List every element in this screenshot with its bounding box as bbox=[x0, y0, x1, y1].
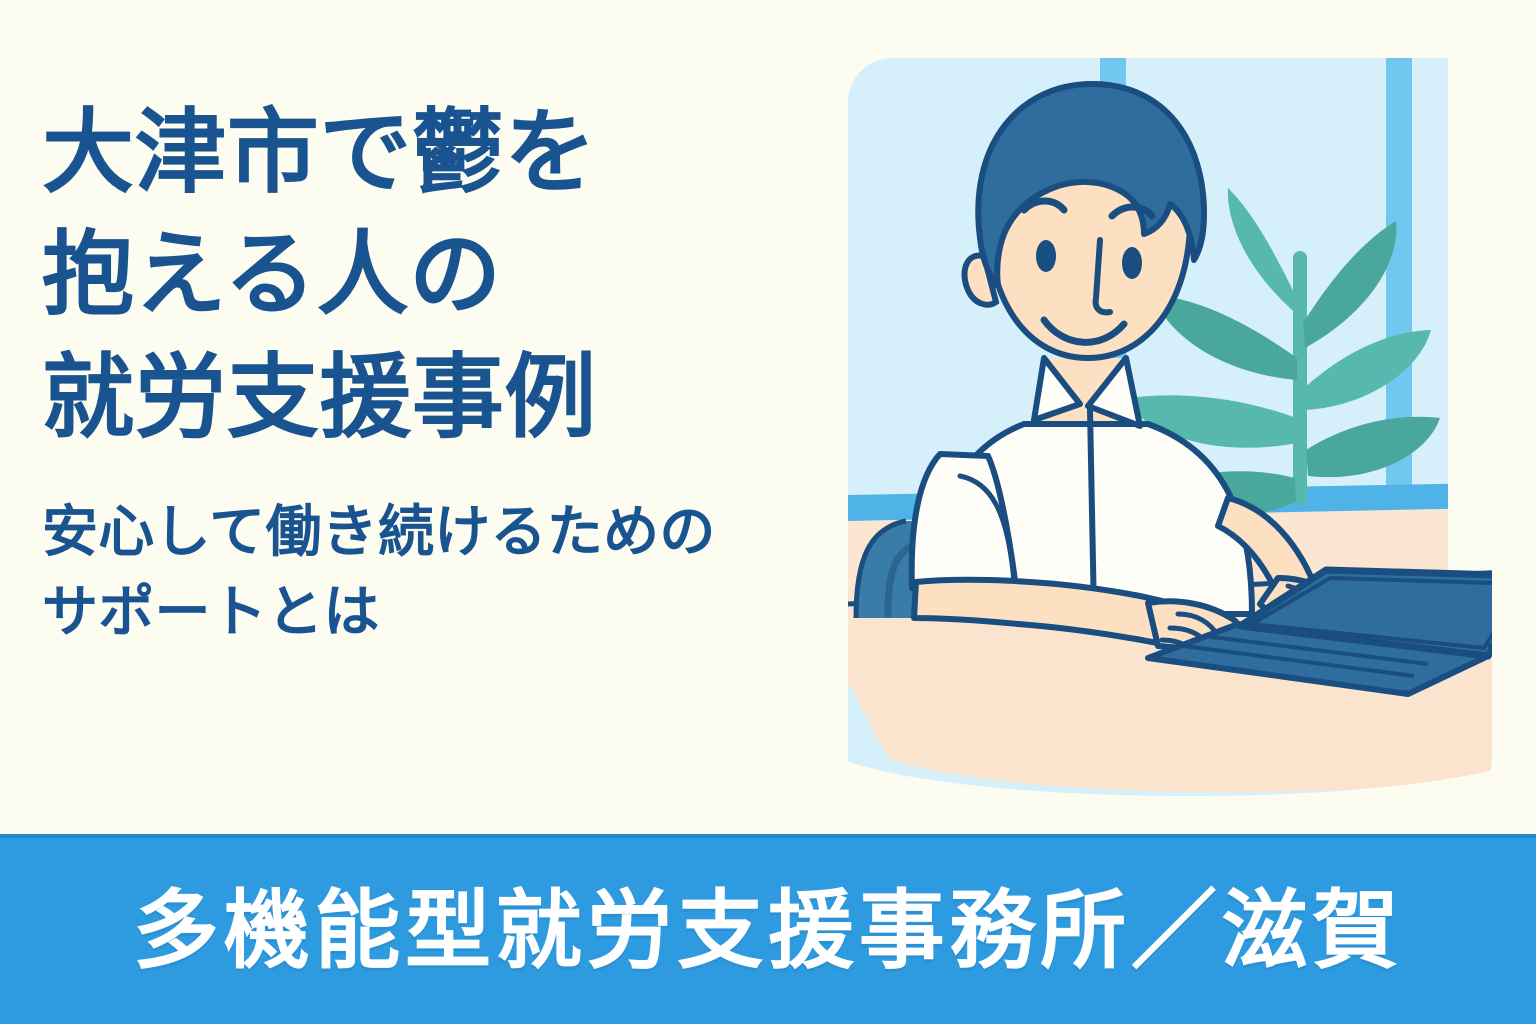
bottom-banner: 多機能型就労支援事務所／滋賀 bbox=[0, 834, 1536, 1024]
headline-line-3: 就労支援事例 bbox=[42, 337, 742, 459]
subhead-line-2: サポートとは bbox=[42, 573, 742, 653]
illustration-card bbox=[848, 58, 1492, 804]
eye-right bbox=[1122, 247, 1142, 279]
page-subtitle: 安心して働き続けるための サポートとは bbox=[42, 493, 742, 652]
shirt-placket bbox=[1090, 410, 1094, 614]
eye-left bbox=[1036, 240, 1056, 272]
page-title: 大津市で鬱を 抱える人の 就労支援事例 bbox=[42, 92, 742, 459]
headline-line-2: 抱える人の bbox=[42, 214, 742, 336]
headline-line-1: 大津市で鬱を bbox=[42, 92, 742, 214]
wall-right-panel bbox=[1448, 58, 1492, 618]
banner-label: 多機能型就労支援事務所／滋賀 bbox=[133, 888, 1403, 974]
poster-canvas: 大津市で鬱を 抱える人の 就労支援事例 安心して働き続けるための サポートとは bbox=[0, 0, 1536, 1024]
text-block: 大津市で鬱を 抱える人の 就労支援事例 安心して働き続けるための サポートとは bbox=[42, 92, 742, 652]
subhead-line-1: 安心して働き続けるための bbox=[42, 493, 742, 573]
man-at-laptop-illustration bbox=[848, 58, 1492, 804]
